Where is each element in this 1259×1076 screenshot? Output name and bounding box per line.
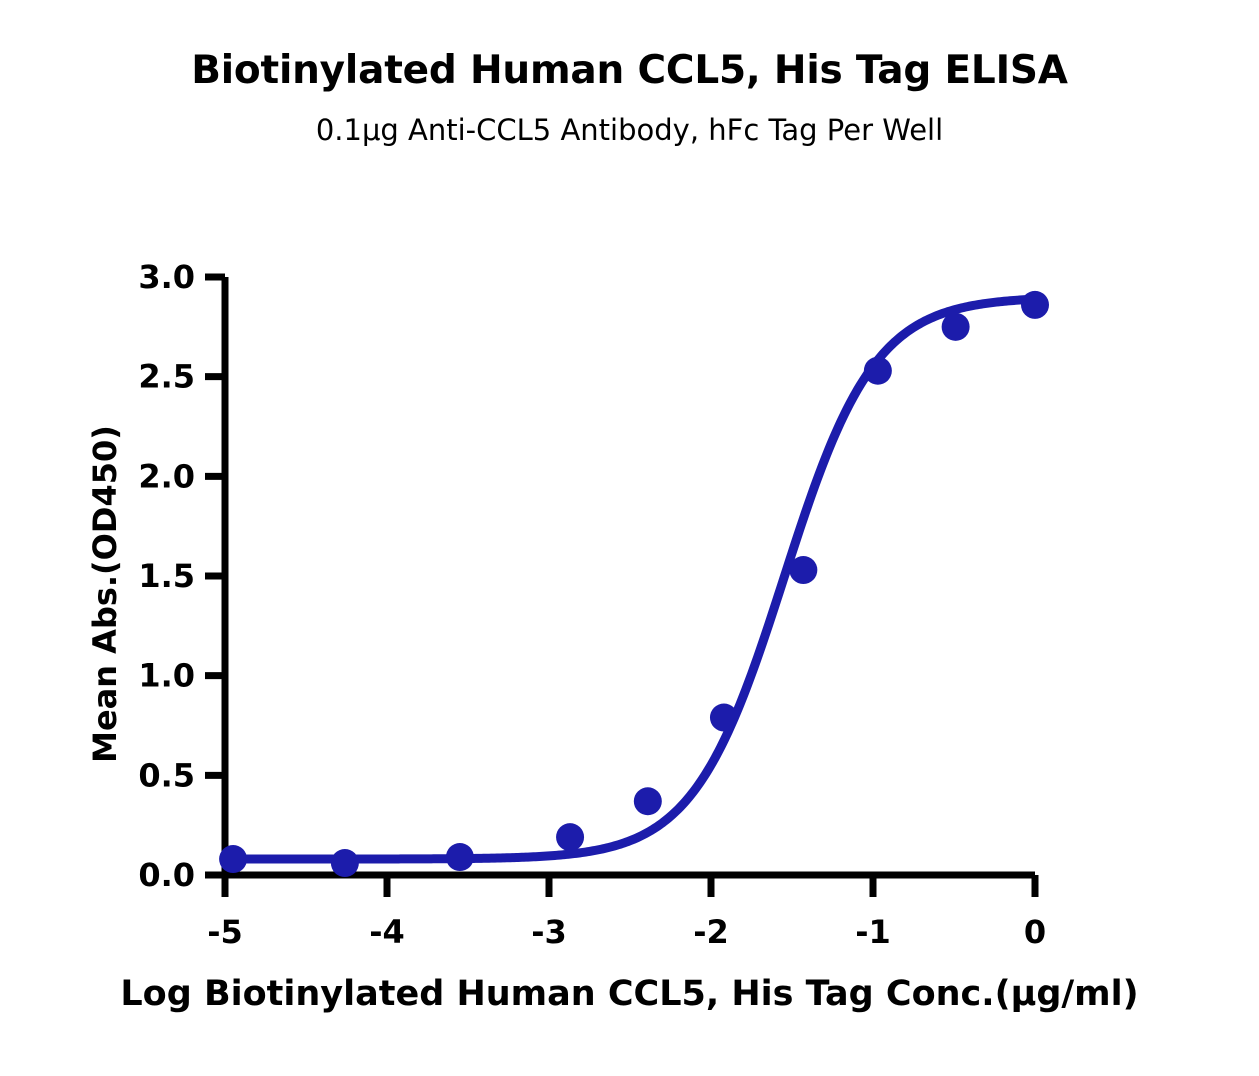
- y-tick-label: 0.5: [138, 756, 195, 794]
- y-tick-label: 2.0: [138, 457, 195, 495]
- data-point-marker: [556, 823, 584, 851]
- data-point-marker: [864, 357, 892, 385]
- data-point-marker: [331, 849, 359, 877]
- data-point-marker: [446, 843, 474, 871]
- x-tick-label: -4: [369, 913, 405, 951]
- y-tick-label: 2.5: [138, 358, 195, 396]
- plot-area: 0.00.51.01.52.02.53.0 -5-4-3-2-10: [0, 0, 1259, 1076]
- y-tick-label: 0.0: [138, 856, 195, 894]
- y-tick-group: 0.00.51.01.52.02.53.0: [138, 258, 225, 894]
- y-tick-label: 1.5: [138, 557, 195, 595]
- data-points-group: [219, 291, 1049, 877]
- data-point-marker: [219, 845, 247, 873]
- y-tick-label: 1.0: [138, 657, 195, 695]
- data-point-marker: [789, 556, 817, 584]
- y-tick-label: 3.0: [138, 258, 195, 296]
- data-point-marker: [1021, 291, 1049, 319]
- x-tick-label: -2: [693, 913, 729, 951]
- elisa-chart-figure: Biotinylated Human CCL5, His Tag ELISA 0…: [0, 0, 1259, 1076]
- x-tick-label: -1: [855, 913, 891, 951]
- data-point-marker: [634, 787, 662, 815]
- data-point-marker: [942, 313, 970, 341]
- x-tick-group: -5-4-3-2-10: [207, 875, 1046, 951]
- x-tick-label: -5: [207, 913, 243, 951]
- x-tick-label: -3: [531, 913, 567, 951]
- data-point-marker: [710, 704, 738, 732]
- fit-curve-group: [225, 299, 1035, 859]
- axes-group: [225, 277, 1035, 875]
- fit-curve-path: [225, 299, 1035, 859]
- x-tick-label: 0: [1024, 913, 1046, 951]
